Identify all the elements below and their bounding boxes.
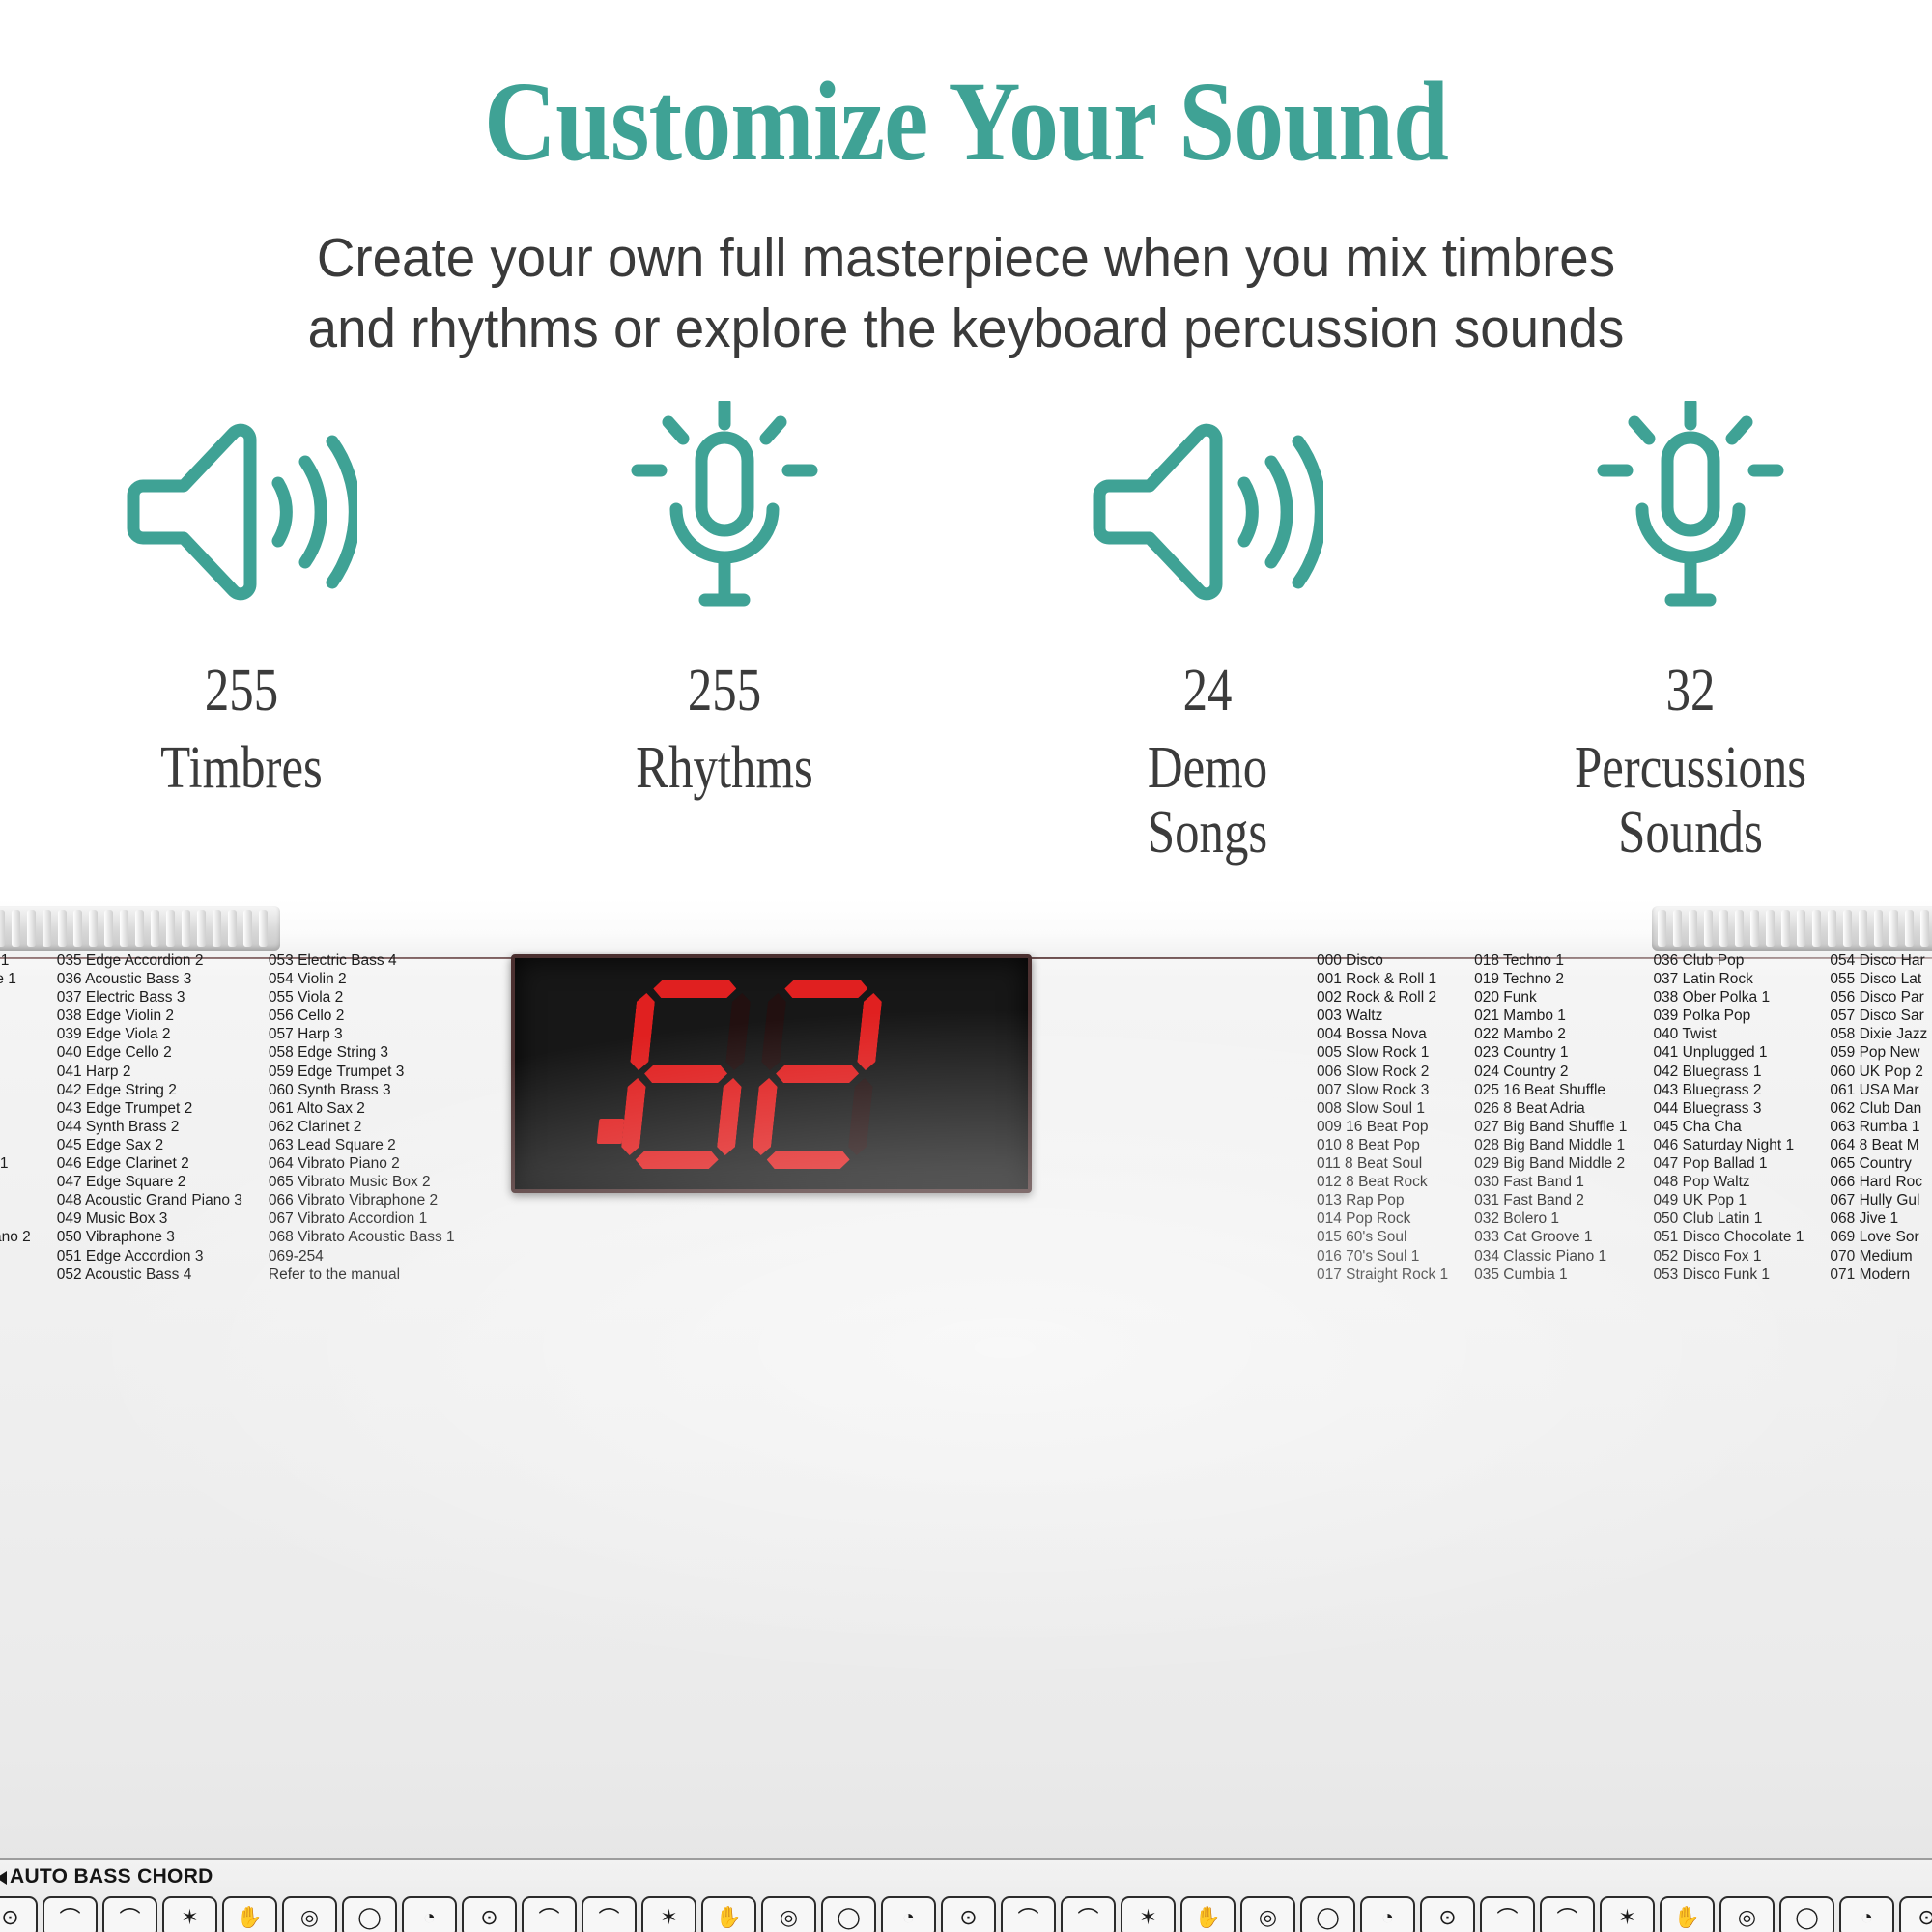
timbre-item: Refer to the manual	[269, 1265, 455, 1284]
rhythm-item: 034 Classic Piano 1	[1474, 1247, 1627, 1265]
drum-icon: ⊙	[941, 1896, 996, 1932]
drum-icon: ⊙	[1899, 1896, 1932, 1932]
timbre-item: 045 Edge Sax 2	[57, 1136, 242, 1154]
timbre-item: 044 Synth Brass 2	[57, 1118, 242, 1136]
clap-icon: ✋	[1180, 1896, 1236, 1932]
drum-icon: ⊙	[1420, 1896, 1475, 1932]
stat-number: 255	[551, 661, 899, 721]
microphone-icon	[1478, 386, 1903, 638]
timbre-item: 036 Acoustic Bass 3	[57, 970, 242, 988]
timbre-item: 040 Edge Cello 2	[57, 1043, 242, 1062]
timbre-item: 038 Edge Violin 2	[57, 1007, 242, 1025]
marketing-hero: Customize Your Sound Create your own ful…	[0, 0, 1932, 898]
cymbal-icon: ⌒	[102, 1896, 157, 1932]
drum-icon: ⊙	[0, 1896, 38, 1932]
timbre-item: 042 Edge String 2	[57, 1081, 242, 1099]
rhythm-item: 015 60's Soul	[1317, 1228, 1448, 1246]
rhythm-item: 012 8 Beat Rock	[1317, 1173, 1448, 1191]
tom-icon: ◎	[282, 1896, 337, 1932]
rhythm-item: 013 Rap Pop	[1317, 1191, 1448, 1209]
stat-demo-songs: 24 Demo Songs	[995, 386, 1420, 866]
timbre-item: ic Bass 2	[0, 1025, 31, 1043]
timbre-list: o Music Box 1o Vibraphone 1 Accordion 1t…	[0, 952, 481, 1284]
timbre-item: 043 Edge Trumpet 2	[57, 1099, 242, 1118]
rhythm-item: 022 Mambo 2	[1474, 1025, 1627, 1043]
splash-icon: ✶	[1600, 1896, 1655, 1932]
led-digit-group	[598, 980, 892, 1169]
stat-label-line-2: Songs	[1034, 801, 1382, 866]
left-arrow-icon	[0, 1871, 7, 1885]
timbre-item: 067 Vibrato Accordion 1	[269, 1209, 455, 1228]
stat-label-line-1: Percussions	[1517, 736, 1865, 801]
rhythm-item: 002 Rock & Roll 2	[1317, 988, 1448, 1007]
bongo-icon: ◔	[1360, 1896, 1415, 1932]
timbre-item: 054 Violin 2	[269, 970, 455, 988]
timbre-item: tic Bass 2	[0, 1007, 31, 1025]
rhythm-item: 053 Disco Funk 1	[1653, 1265, 1804, 1284]
timbre-item: Cello 1	[0, 1081, 31, 1099]
stat-number: 255	[68, 661, 416, 721]
rhythm-item: 014 Pop Rock	[1317, 1209, 1448, 1228]
timbre-item: 041 Harp 2	[57, 1063, 242, 1081]
timbre-item: Trumpet 1	[0, 1136, 31, 1154]
timbre-item: 059 Edge Trumpet 3	[269, 1063, 455, 1081]
rhythm-item: 007 Slow Rock 3	[1317, 1081, 1448, 1099]
timbre-item: 052 Acoustic Bass 4	[57, 1265, 242, 1284]
rhythm-item: 058 Dixie Jazz	[1830, 1025, 1927, 1043]
rhythm-item: 032 Bolero 1	[1474, 1209, 1627, 1228]
cymbal-icon: ⌒	[1540, 1896, 1595, 1932]
rhythm-item: 030 Fast Band 1	[1474, 1173, 1627, 1191]
feature-stats: 255 Timbres 255	[0, 386, 1932, 866]
clap-icon: ✋	[222, 1896, 277, 1932]
rhythm-item: 066 Hard Roc	[1830, 1173, 1927, 1191]
speaker-wave-icon	[29, 386, 454, 638]
timbre-item: 057 Harp 3	[269, 1025, 455, 1043]
rhythm-item: 006 Slow Rock 2	[1317, 1063, 1448, 1081]
rhythm-list-column-1: 000 Disco001 Rock & Roll 1002 Rock & Rol…	[1317, 952, 1448, 1284]
rhythm-list-column-3: 036 Club Pop037 Latin Rock038 Ober Polka…	[1653, 952, 1804, 1284]
timbre-item: 063 Lead Square 2	[269, 1136, 455, 1154]
tom-icon: ◎	[761, 1896, 816, 1932]
subtitle-line-2: and rhythms or explore the keyboard perc…	[39, 294, 1893, 364]
stat-label: Demo Songs	[1034, 736, 1382, 866]
rhythm-item: 010 8 Beat Pop	[1317, 1136, 1448, 1154]
drum-icon: ⊙	[462, 1896, 517, 1932]
rhythm-item: 023 Country 1	[1474, 1043, 1627, 1062]
rhythm-item: 038 Ober Polka 1	[1653, 988, 1804, 1007]
rhythm-item: 031 Fast Band 2	[1474, 1191, 1627, 1209]
led-display	[511, 954, 1032, 1193]
rhythm-item: 003 Waltz	[1317, 1007, 1448, 1025]
timbre-item: o Vibraphone 1	[0, 970, 31, 988]
microphone-icon	[512, 386, 937, 638]
stat-label: Rhythms	[551, 736, 899, 801]
cymbal-icon: ⌒	[1061, 1896, 1116, 1932]
timbre-item: 055 Viola 2	[269, 988, 455, 1007]
timbre-item: 065 Vibrato Music Box 2	[269, 1173, 455, 1191]
rhythm-item: 039 Polka Pop	[1653, 1007, 1804, 1025]
rhythm-item: 060 UK Pop 2	[1830, 1063, 1927, 1081]
timbre-item: 050 Vibraphone 3	[57, 1228, 242, 1246]
rhythm-item: 021 Mambo 1	[1474, 1007, 1627, 1025]
rim-icon: ◯	[1300, 1896, 1355, 1932]
rhythm-item: 043 Bluegrass 2	[1653, 1081, 1804, 1099]
stat-rhythms: 255 Rhythms	[512, 386, 937, 801]
rhythm-item: 054 Disco Har	[1830, 952, 1927, 970]
rhythm-item: 042 Bluegrass 1	[1653, 1063, 1804, 1081]
rhythm-item: 029 Big Band Middle 2	[1474, 1154, 1627, 1173]
splash-icon: ✶	[1121, 1896, 1176, 1932]
rhythm-list: 000 Disco001 Rock & Roll 1002 Rock & Rol…	[1317, 952, 1932, 1284]
rim-icon: ◯	[821, 1896, 876, 1932]
cymbal-icon: ⌒	[43, 1896, 98, 1932]
timbre-item: 047 Edge Square 2	[57, 1173, 242, 1191]
rhythm-item: 037 Latin Rock	[1653, 970, 1804, 988]
rhythm-item: 056 Disco Par	[1830, 988, 1927, 1007]
auto-bass-chord-strip: AUTO BASS CHORD ⊙⌒⌒✶✋◎◯◔⊙⌒⌒✶✋◎◯◔⊙⌒⌒✶✋◎◯◔…	[0, 1858, 1932, 1932]
splash-icon: ✶	[641, 1896, 696, 1932]
rhythm-item: 051 Disco Chocolate 1	[1653, 1228, 1804, 1246]
rhythm-item: 001 Rock & Roll 1	[1317, 970, 1448, 988]
rhythm-item: 024 Country 2	[1474, 1063, 1627, 1081]
timbre-item: 049 Music Box 3	[57, 1209, 242, 1228]
timbre-list-column-2: 035 Edge Accordion 2036 Acoustic Bass 30…	[57, 952, 242, 1284]
rhythm-item: 036 Club Pop	[1653, 952, 1804, 970]
timbre-item: 068 Vibrato Acoustic Bass 1	[269, 1228, 455, 1246]
rhythm-item: 048 Pop Waltz	[1653, 1173, 1804, 1191]
rhythm-item: 068 Jive 1	[1830, 1209, 1927, 1228]
rhythm-item: 027 Big Band Shuffle 1	[1474, 1118, 1627, 1136]
timbre-item: Synth Brass 1	[0, 1154, 31, 1173]
timbre-list-column-1: o Music Box 1o Vibraphone 1 Accordion 1t…	[0, 952, 31, 1284]
timbre-list-column-3: 053 Electric Bass 4054 Violin 2055 Viola…	[269, 952, 455, 1284]
rhythm-item: 009 16 Beat Pop	[1317, 1118, 1448, 1136]
rhythm-item: 000 Disco	[1317, 952, 1448, 970]
rhythm-item: 052 Disco Fox 1	[1653, 1247, 1804, 1265]
tom-icon: ◎	[1240, 1896, 1295, 1932]
rhythm-item: 028 Big Band Middle 1	[1474, 1136, 1627, 1154]
timbre-item: 037 Electric Bass 3	[57, 988, 242, 1007]
stat-label-line-1: Demo	[1034, 736, 1382, 801]
timbre-item: 061 Alto Sax 2	[269, 1099, 455, 1118]
rhythm-item: 020 Funk	[1474, 988, 1627, 1007]
rhythm-list-column-4: 054 Disco Har055 Disco Lat056 Disco Par0…	[1830, 952, 1927, 1284]
rhythm-item: 025 16 Beat Shuffle	[1474, 1081, 1627, 1099]
rhythm-item: 035 Cumbia 1	[1474, 1265, 1627, 1284]
rhythm-item: 069 Love Sor	[1830, 1228, 1927, 1246]
timbre-item: Square 1	[0, 1209, 31, 1228]
bongo-icon: ◔	[1839, 1896, 1894, 1932]
led-digit-1	[619, 980, 753, 1169]
rhythm-item: 026 8 Beat Adria	[1474, 1099, 1627, 1118]
timbre-item: 046 Edge Clarinet 2	[57, 1154, 242, 1173]
timbre-item: 062 Clarinet 2	[269, 1118, 455, 1136]
timbre-item: 048 Acoustic Grand Piano 3	[57, 1191, 242, 1209]
timbre-item: String 1	[0, 1118, 31, 1136]
rhythm-item: 004 Bossa Nova	[1317, 1025, 1448, 1043]
cymbal-icon: ⌒	[522, 1896, 577, 1932]
rhythm-item: 050 Club Latin 1	[1653, 1209, 1804, 1228]
rhythm-item: 041 Unplugged 1	[1653, 1043, 1804, 1062]
rhythm-item: 064 8 Beat M	[1830, 1136, 1927, 1154]
stat-label-line-2: Sounds	[1517, 801, 1865, 866]
rhythm-item: 017 Straight Rock 1	[1317, 1265, 1448, 1284]
timbre-item: Box 2	[0, 1247, 31, 1265]
rhythm-item: 067 Hully Gul	[1830, 1191, 1927, 1209]
rhythm-item: 047 Pop Ballad 1	[1653, 1154, 1804, 1173]
stat-label: Percussions Sounds	[1517, 736, 1865, 866]
clap-icon: ✋	[701, 1896, 756, 1932]
cymbal-icon: ⌒	[1480, 1896, 1535, 1932]
rhythm-item: 044 Bluegrass 3	[1653, 1099, 1804, 1118]
rhythm-item: 071 Modern	[1830, 1265, 1927, 1284]
rhythm-item: 057 Disco Sar	[1830, 1007, 1927, 1025]
tom-icon: ◎	[1719, 1896, 1775, 1932]
timbre-item: 060 Synth Brass 3	[269, 1081, 455, 1099]
cymbal-icon: ⌒	[1001, 1896, 1056, 1932]
led-digit-2	[751, 980, 885, 1169]
timbre-item: 053 Electric Bass 4	[269, 952, 455, 970]
rhythm-item: 033 Cat Groove 1	[1474, 1228, 1627, 1246]
timbre-item: 069-254	[269, 1247, 455, 1265]
timbre-item: Accordion 1	[0, 988, 31, 1007]
rhythm-item: 059 Pop New	[1830, 1043, 1927, 1062]
speaker-grille-right	[1652, 906, 1932, 951]
timbre-item: 039 Edge Viola 2	[57, 1025, 242, 1043]
timbre-item: 056 Cello 2	[269, 1007, 455, 1025]
stat-number: 24	[1034, 661, 1382, 721]
timbre-item: hone 2	[0, 1265, 31, 1284]
rhythm-item: 011 8 Beat Soul	[1317, 1154, 1448, 1173]
rhythm-item: 063 Rumba 1	[1830, 1118, 1927, 1136]
led-decimal-point	[597, 1119, 625, 1144]
rhythm-item: 019 Techno 2	[1474, 970, 1627, 988]
stat-label-line-1: Timbres	[68, 736, 416, 801]
stat-number: 32	[1517, 661, 1865, 721]
rhythm-item: 070 Medium	[1830, 1247, 1927, 1265]
rim-icon: ◯	[1779, 1896, 1834, 1932]
rhythm-item: 018 Techno 1	[1474, 952, 1627, 970]
timbre-item: 058 Edge String 3	[269, 1043, 455, 1062]
rhythm-item: 045 Cha Cha	[1653, 1118, 1804, 1136]
rhythm-list-column-2: 018 Techno 1019 Techno 2020 Funk021 Mamb…	[1474, 952, 1627, 1284]
page-title: Customize Your Sound	[116, 60, 1816, 183]
rim-icon: ◯	[342, 1896, 397, 1932]
rhythm-item: 061 USA Mar	[1830, 1081, 1927, 1099]
auto-bass-chord-title: AUTO BASS CHORD	[10, 1865, 213, 1889]
speaker-grille-left	[0, 906, 280, 951]
keyboard-control-panel: o Music Box 1o Vibraphone 1 Accordion 1t…	[0, 898, 1932, 1932]
timbre-item: Violin 1	[0, 1043, 31, 1062]
timbre-item: 1	[0, 1099, 31, 1118]
bongo-icon: ◔	[402, 1896, 457, 1932]
timbre-item: tic Grand Piano 2	[0, 1228, 31, 1246]
rhythm-item: 055 Disco Lat	[1830, 970, 1927, 988]
timbre-item: 064 Vibrato Piano 2	[269, 1154, 455, 1173]
bongo-icon: ◔	[881, 1896, 936, 1932]
stat-label-line-1: Rhythms	[551, 736, 899, 801]
timbre-item: 035 Edge Accordion 2	[57, 952, 242, 970]
rhythm-item: 062 Club Dan	[1830, 1099, 1927, 1118]
rhythm-item: 065 Country	[1830, 1154, 1927, 1173]
stat-percussion-sounds: 32 Percussions Sounds	[1478, 386, 1903, 866]
timbre-item: o Music Box 1	[0, 952, 31, 970]
rhythm-item: 040 Twist	[1653, 1025, 1804, 1043]
subtitle-line-1: Create your own full masterpiece when yo…	[39, 223, 1893, 294]
cymbal-icon: ⌒	[582, 1896, 637, 1932]
page-subtitle: Create your own full masterpiece when yo…	[39, 223, 1893, 364]
splash-icon: ✶	[162, 1896, 217, 1932]
rhythm-item: 049 UK Pop 1	[1653, 1191, 1804, 1209]
percussion-icon-row: ⊙⌒⌒✶✋◎◯◔⊙⌒⌒✶✋◎◯◔⊙⌒⌒✶✋◎◯◔⊙⌒⌒✶✋◎◯◔⊙⌒	[0, 1896, 1932, 1932]
stat-label: Timbres	[68, 736, 416, 801]
rhythm-item: 016 70's Soul 1	[1317, 1247, 1448, 1265]
rhythm-item: 005 Slow Rock 1	[1317, 1043, 1448, 1062]
speaker-wave-icon	[995, 386, 1420, 638]
timbre-item: 066 Vibrato Vibraphone 2	[269, 1191, 455, 1209]
keyboard-top-shelf	[0, 898, 1932, 958]
stat-timbres: 255 Timbres	[29, 386, 454, 801]
clap-icon: ✋	[1660, 1896, 1715, 1932]
rhythm-item: 008 Slow Soul 1	[1317, 1099, 1448, 1118]
timbre-item: Clarinet 1	[0, 1191, 31, 1209]
timbre-item: 051 Edge Accordion 3	[57, 1247, 242, 1265]
timbre-item: Viola 1	[0, 1063, 31, 1081]
rhythm-item: 046 Saturday Night 1	[1653, 1136, 1804, 1154]
timbre-item: Sax 1	[0, 1173, 31, 1191]
